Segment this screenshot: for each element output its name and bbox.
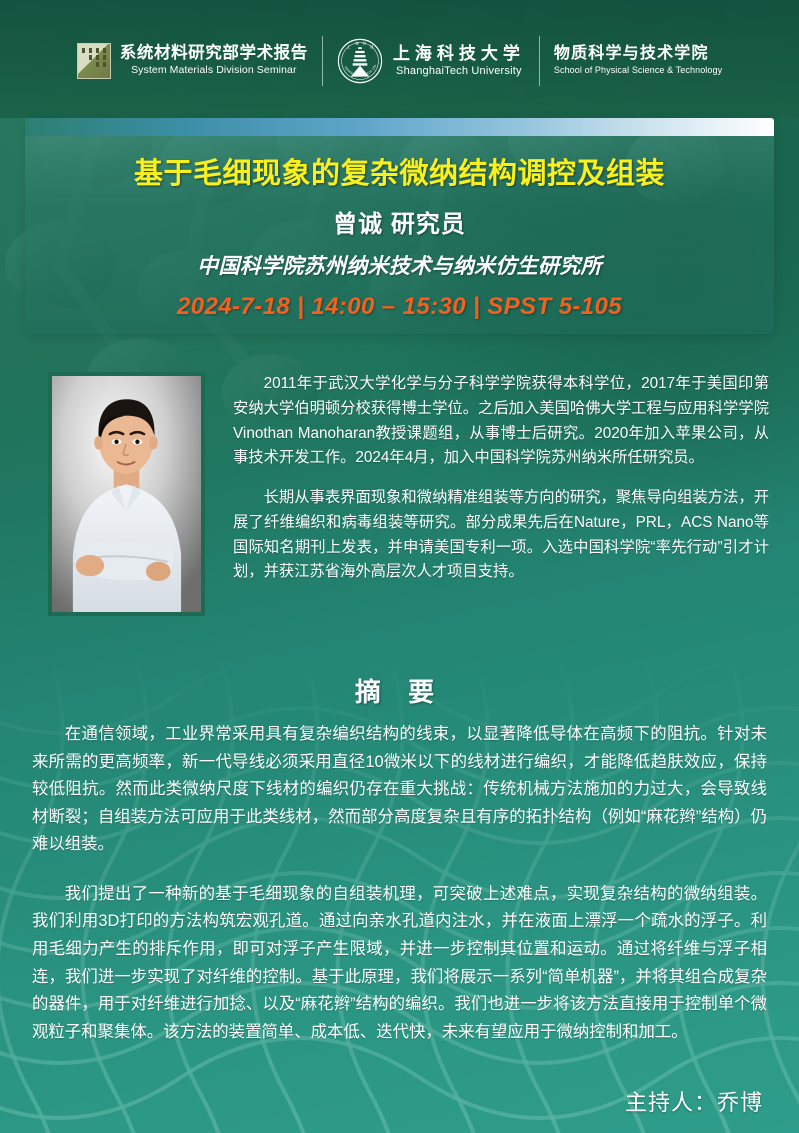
header-divider-1 bbox=[322, 36, 323, 86]
talk-title: 基于毛细现象的复杂微纳结构调控及组装 bbox=[134, 150, 665, 192]
accent-gradient-bar bbox=[25, 118, 774, 136]
org-center-title-en: ShanghaiTech University bbox=[393, 64, 525, 78]
abstract-paragraph-1: 在通信领域，工业界常采用具有复杂编织结构的线束，以显著降低导体在高频下的阻抗。针… bbox=[32, 721, 767, 859]
speaker-name: 曾诚 研究员 bbox=[333, 204, 466, 239]
svg-text:上: 上 bbox=[347, 44, 351, 49]
svg-text:科: 科 bbox=[363, 40, 367, 45]
abstract-paragraph-2: 我们提出了一种新的基于毛细现象的自组装机理，可突破上述难点，实现复杂结构的微纳组… bbox=[32, 881, 767, 1046]
org-right-logo: 物质科学与技术学院 School of Physical Science & T… bbox=[554, 32, 722, 90]
org-left-title-en: System Materials Division Seminar bbox=[120, 64, 308, 78]
abstract-body: 在通信领域，工业界常采用具有复杂编织结构的线束，以显著降低导体在高频下的阻抗。针… bbox=[32, 721, 767, 1046]
org-right-title-en: School of Physical Science & Technology bbox=[554, 65, 722, 77]
title-panel: 基于毛细现象的复杂微纳结构调控及组装 曾诚 研究员 中国科学院苏州纳米技术与纳米… bbox=[25, 118, 774, 334]
header-divider-2 bbox=[539, 36, 540, 86]
bio-paragraph-2: 长期从事表界面现象和微纳精准组装等方向的研究，聚焦导向组装方法，开展了纤维编织和… bbox=[233, 486, 769, 585]
svg-text:海: 海 bbox=[355, 40, 359, 45]
system-materials-logo-icon bbox=[77, 43, 111, 79]
abstract-section: 摘 要 在通信领域，工业界常采用具有复杂编织结构的线束，以显著降低导体在高频下的… bbox=[0, 672, 799, 1046]
shanghaitech-seal-icon: 上海 科技 SHANGHAITECH UNIVERSITY bbox=[337, 38, 383, 84]
org-left-logo: 系统材料研究部学术报告 System Materials Division Se… bbox=[77, 32, 308, 90]
speaker-portrait bbox=[48, 372, 205, 616]
biography-section: 2011年于武汉大学化学与分子科学学院获得本科学位，2017年于美国印第安纳大学… bbox=[0, 372, 799, 616]
org-right-title-cn: 物质科学与技术学院 bbox=[554, 45, 722, 63]
host-label: 主持人：乔博 bbox=[625, 1085, 763, 1117]
biography-text: 2011年于武汉大学化学与分子科学学院获得本科学位，2017年于美国印第安纳大学… bbox=[233, 372, 769, 585]
org-center-logo: 上海 科技 SHANGHAITECH UNIVERSITY 上海科技大学 Sha… bbox=[337, 32, 525, 90]
bio-paragraph-1: 2011年于武汉大学化学与分子科学学院获得本科学位，2017年于美国印第安纳大学… bbox=[233, 372, 769, 471]
abstract-heading: 摘 要 bbox=[32, 672, 767, 709]
org-center-title-cn: 上海科技大学 bbox=[393, 44, 525, 64]
header-logo-strip: 系统材料研究部学术报告 System Materials Division Se… bbox=[0, 30, 799, 92]
event-datetime-venue: 2024-7-18 | 14:00 – 15:30 | SPST 5-105 bbox=[177, 293, 622, 321]
org-left-title-cn: 系统材料研究部学术报告 bbox=[120, 44, 308, 63]
speaker-affiliation: 中国科学院苏州纳米技术与纳米仿生研究所 bbox=[197, 250, 602, 280]
